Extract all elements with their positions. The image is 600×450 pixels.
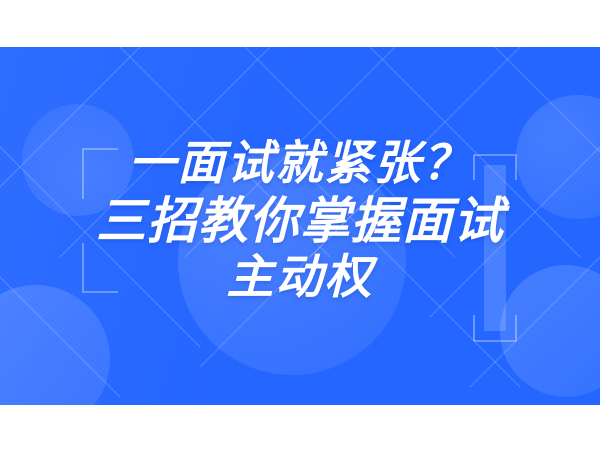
- banner-headline: 一面试就紧张？ 三招教你掌握面试 主动权: [0, 135, 600, 306]
- screenshot-stage: 一面试就紧张？ 三招教你掌握面试 主动权: [0, 0, 600, 450]
- headline-line-2: 三招教你掌握面试: [0, 192, 600, 249]
- promo-banner: 一面试就紧张？ 三招教你掌握面试 主动权: [0, 47, 600, 405]
- headline-line-1: 一面试就紧张？: [0, 135, 600, 192]
- headline-line-3: 主动权: [0, 249, 600, 306]
